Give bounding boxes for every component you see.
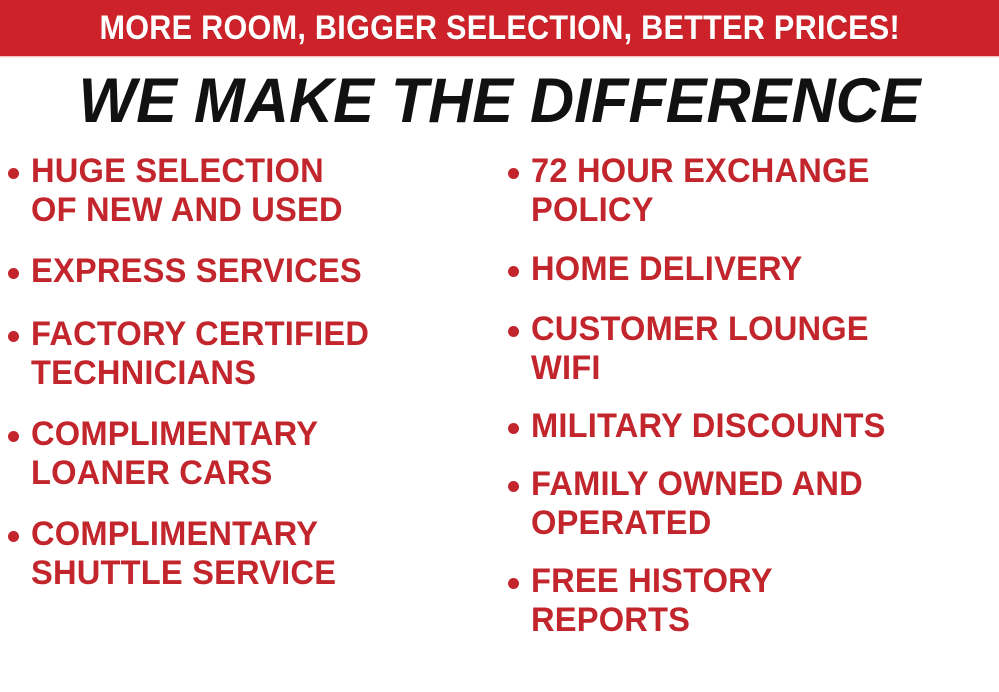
- bullet-dot-icon: [508, 168, 519, 179]
- list-item: HUGE SELECTION OF NEW AND USED: [8, 152, 503, 230]
- list-item-label: FREE HISTORY REPORTS: [531, 562, 980, 640]
- benefits-column-right: 72 HOUR EXCHANGE POLICY HOME DELIVERY CU…: [508, 152, 999, 640]
- promo-poster: MORE ROOM, BIGGER SELECTION, BETTER PRIC…: [0, 0, 999, 692]
- bullet-dot-icon: [8, 531, 19, 542]
- list-item: COMPLIMENTARY SHUTTLE SERVICE: [8, 515, 503, 593]
- list-item: FREE HISTORY REPORTS: [508, 562, 999, 640]
- list-item-label: MILITARY DISCOUNTS: [531, 407, 980, 446]
- list-item-label: HOME DELIVERY: [531, 250, 980, 289]
- list-item: 72 HOUR EXCHANGE POLICY: [508, 152, 999, 230]
- list-item: CUSTOMER LOUNGE WIFI: [508, 310, 999, 388]
- bullet-dot-icon: [8, 268, 19, 279]
- list-item-label: COMPLIMENTARY LOANER CARS: [31, 415, 484, 493]
- bullet-dot-icon: [508, 578, 519, 589]
- list-item-label: FACTORY CERTIFIED TECHNICIANS: [31, 315, 484, 393]
- banner-bottom-edge: [0, 55, 999, 58]
- bullet-dot-icon: [8, 331, 19, 342]
- benefits-column-left: HUGE SELECTION OF NEW AND USED EXPRESS S…: [8, 152, 503, 593]
- bullet-dot-icon: [508, 423, 519, 434]
- list-item: MILITARY DISCOUNTS: [508, 407, 999, 446]
- page-title: WE MAKE THE DIFFERENCE: [15, 68, 984, 134]
- list-item: EXPRESS SERVICES: [8, 252, 503, 291]
- list-item: COMPLIMENTARY LOANER CARS: [8, 415, 503, 493]
- bullet-dot-icon: [508, 481, 519, 492]
- list-item: FACTORY CERTIFIED TECHNICIANS: [8, 315, 503, 393]
- list-item-label: COMPLIMENTARY SHUTTLE SERVICE: [31, 515, 484, 593]
- list-item: HOME DELIVERY: [508, 250, 999, 289]
- list-item-label: FAMILY OWNED AND OPERATED: [531, 465, 980, 543]
- list-item-label: EXPRESS SERVICES: [31, 252, 484, 291]
- list-item-label: HUGE SELECTION OF NEW AND USED: [31, 152, 484, 230]
- list-item: FAMILY OWNED AND OPERATED: [508, 465, 999, 543]
- list-item-label: 72 HOUR EXCHANGE POLICY: [531, 152, 980, 230]
- top-banner: MORE ROOM, BIGGER SELECTION, BETTER PRIC…: [0, 0, 999, 56]
- bullet-dot-icon: [508, 266, 519, 277]
- bullet-dot-icon: [8, 431, 19, 442]
- banner-headline-text: MORE ROOM, BIGGER SELECTION, BETTER PRIC…: [99, 11, 899, 45]
- benefits-columns: HUGE SELECTION OF NEW AND USED EXPRESS S…: [0, 152, 999, 692]
- bullet-dot-icon: [8, 168, 19, 179]
- list-item-label: CUSTOMER LOUNGE WIFI: [531, 310, 980, 388]
- bullet-dot-icon: [508, 326, 519, 337]
